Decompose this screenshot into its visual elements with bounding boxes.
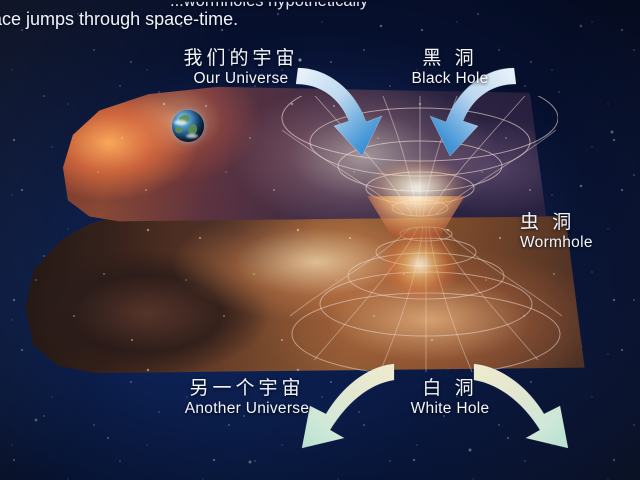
label-another-universe-cn: 另一个宇宙 <box>142 378 352 400</box>
label-black-hole: 黑 洞 Black Hole <box>372 48 528 89</box>
label-black-hole-cn: 黑 洞 <box>372 48 528 70</box>
label-wormhole-cn: 虫 洞 <box>520 212 640 234</box>
label-another-universe: 另一个宇宙 Another Universe <box>142 378 352 419</box>
label-wormhole: 虫 洞 Wormhole <box>520 212 640 253</box>
wormhole-diagram: 我们的宇宙 Our Universe 黑 洞 Black Hole 虫 洞 Wo… <box>0 0 640 480</box>
caption-line-2: pace jumps through space-time. <box>0 9 238 30</box>
label-wormhole-en: Wormhole <box>520 234 640 253</box>
label-our-universe: 我们的宇宙 Our Universe <box>146 48 336 89</box>
label-another-universe-en: Another Universe <box>142 400 352 419</box>
label-black-hole-en: Black Hole <box>372 70 528 89</box>
earth-globe <box>172 110 204 142</box>
label-white-hole: 白 洞 White Hole <box>372 378 528 419</box>
label-our-universe-cn: 我们的宇宙 <box>146 48 336 70</box>
label-white-hole-cn: 白 洞 <box>372 378 528 400</box>
spacetime-sheet-another-universe <box>22 214 588 374</box>
starfield-lower-sheet <box>22 214 588 374</box>
white-hole-glow <box>372 232 468 322</box>
label-our-universe-en: Our Universe <box>146 70 336 89</box>
label-white-hole-en: White Hole <box>372 400 528 419</box>
